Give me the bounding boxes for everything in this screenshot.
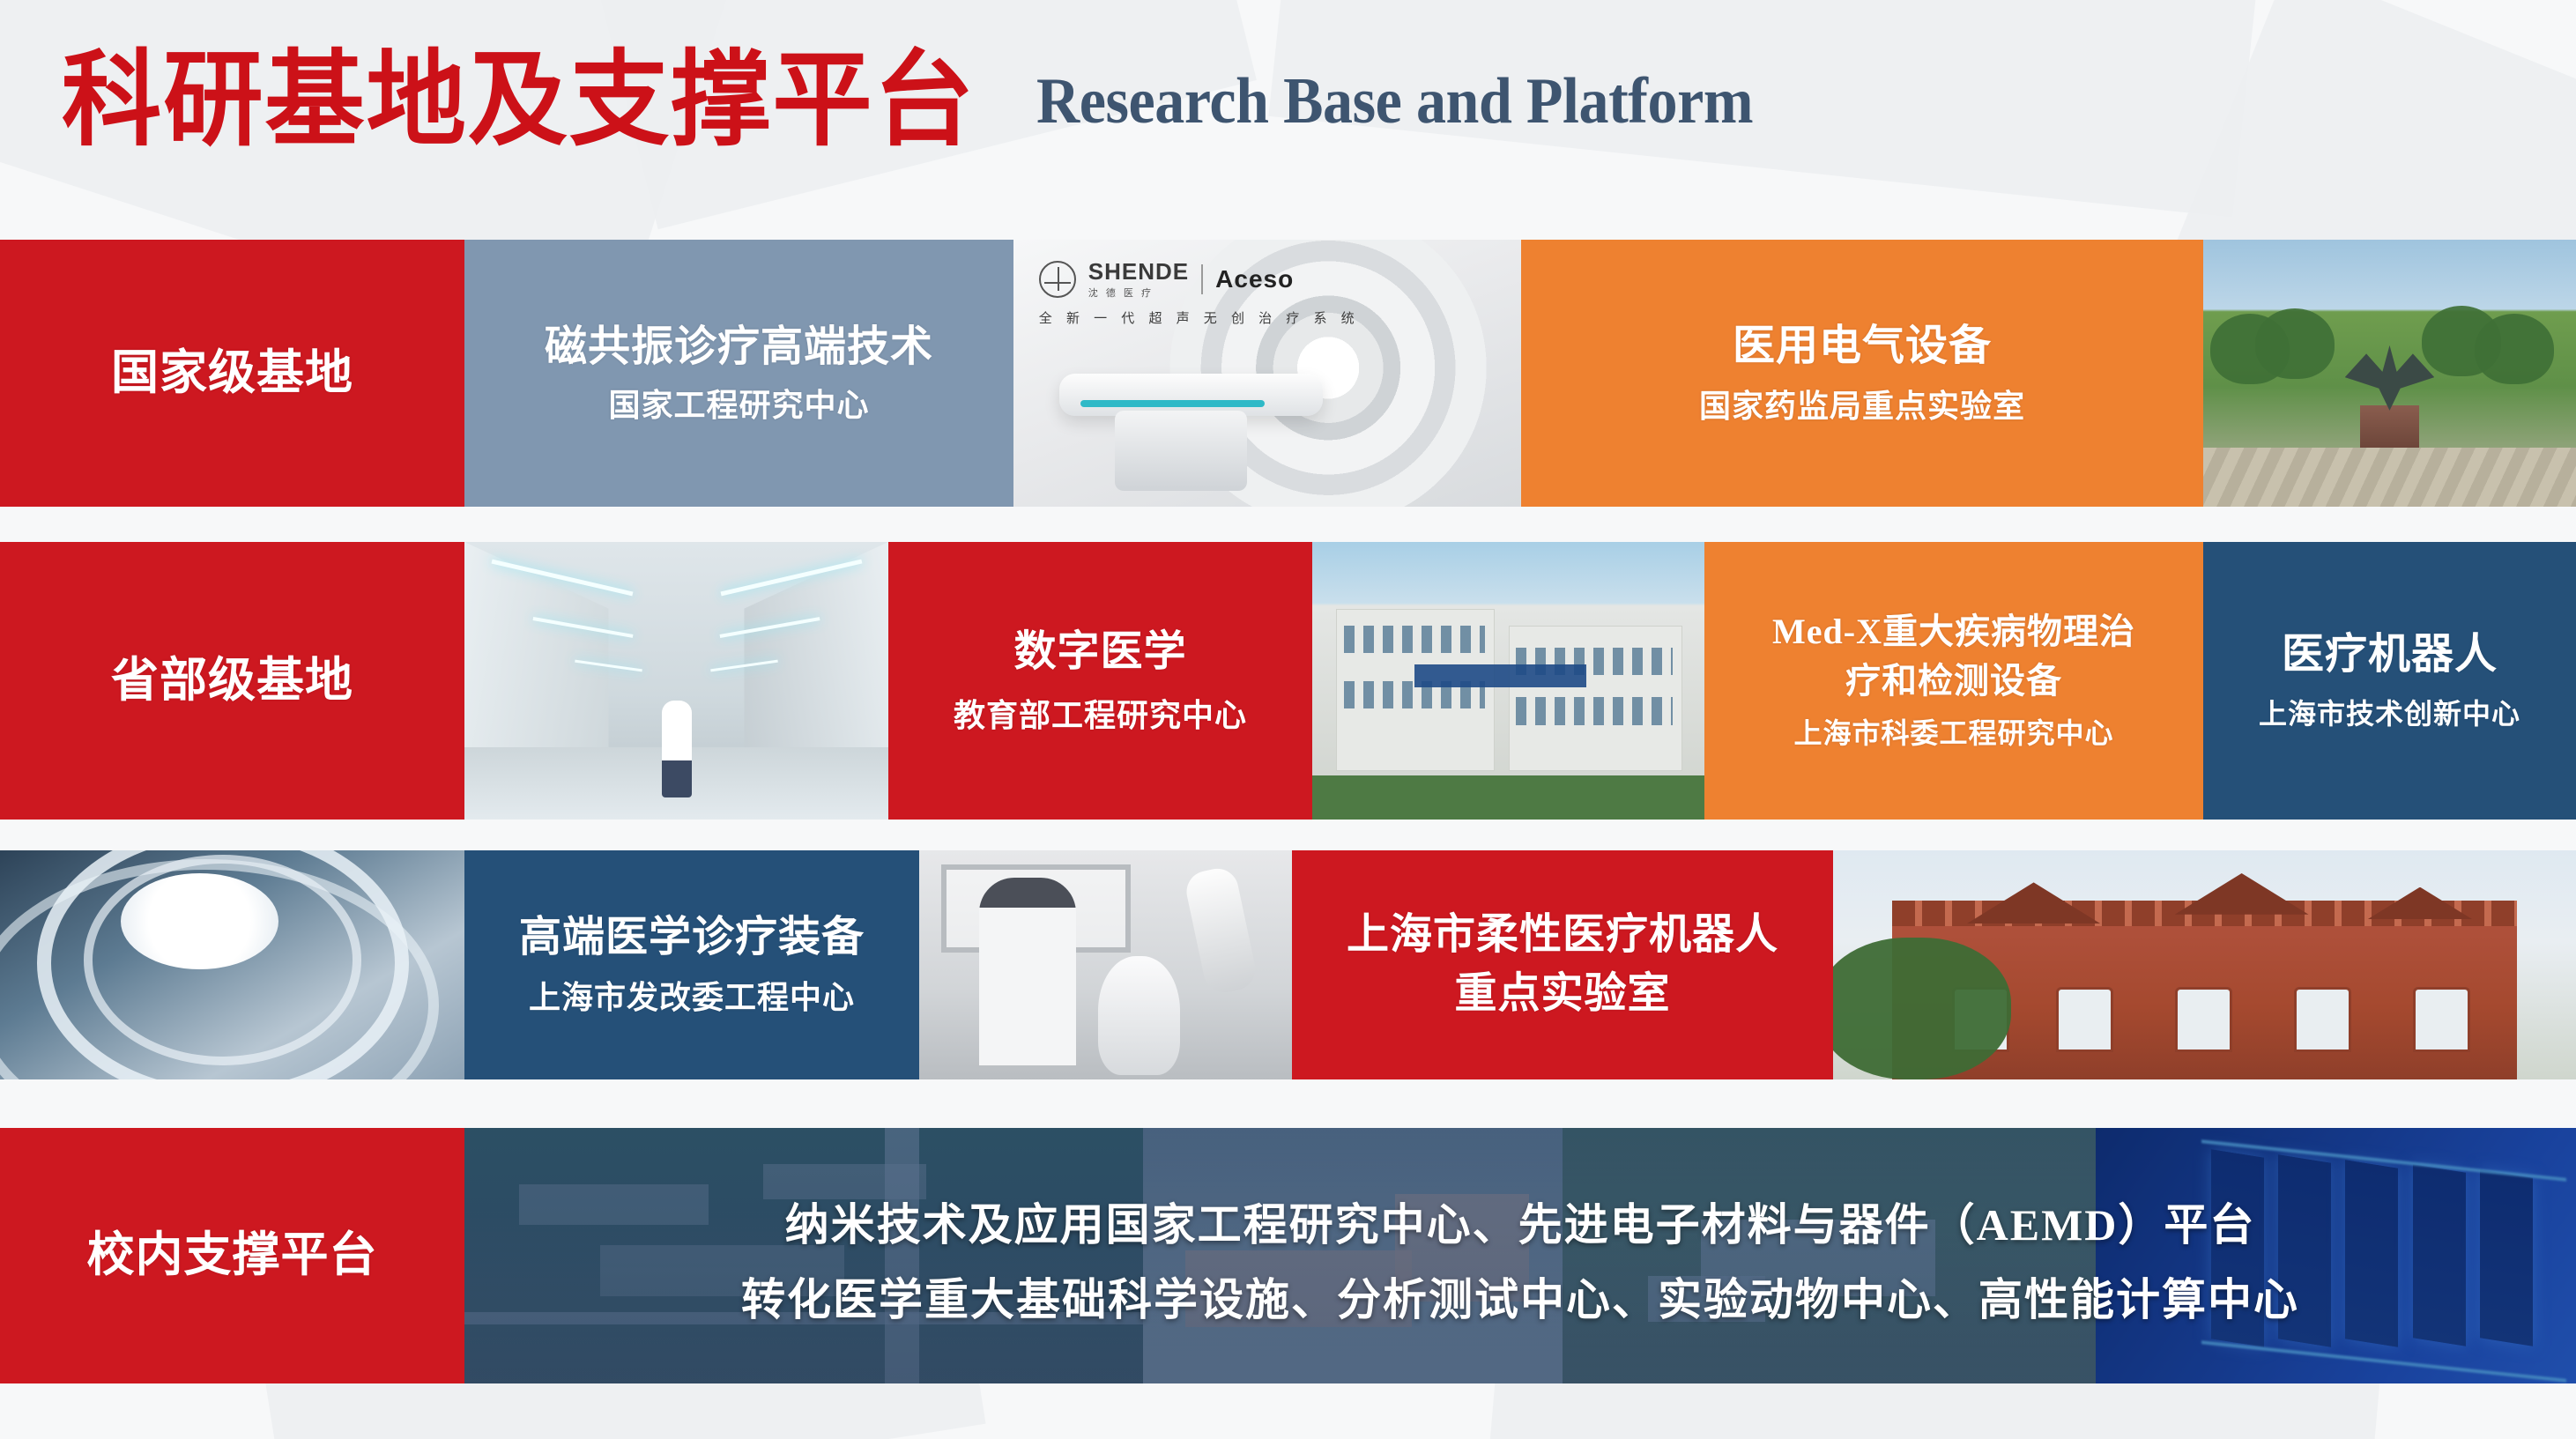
- card-subtitle: 上海市发改委工程中心: [529, 979, 855, 1016]
- photo-campus-eagle: [2203, 240, 2576, 507]
- product-caption: 全 新 一 代 超 声 无 创 治 疗 系 统: [1039, 308, 1360, 327]
- category-label-provincial: 省部级基地: [0, 542, 464, 820]
- card-subtitle: 教育部工程研究中心: [954, 697, 1247, 734]
- photo-school-building: [1312, 542, 1704, 820]
- card-title: 磁共振诊疗高端技术: [545, 323, 933, 373]
- category-label-national: 国家级基地: [0, 240, 464, 507]
- card-title: 医用电气设备: [1733, 322, 1992, 372]
- card-flexible-medical-robot-lab[interactable]: 上海市柔性医疗机器人 重点实验室: [1292, 850, 1833, 1079]
- row-national-base: 国家级基地 磁共振诊疗高端技术 国家工程研究中心 SHENDE 沈 德 医 疗 …: [0, 240, 2576, 507]
- brand-name-cn: 沈 德 医 疗: [1088, 286, 1189, 300]
- product-branding: SHENDE 沈 德 医 疗 Aceso 全 新 一 代 超 声 无 创 治 疗…: [1039, 258, 1360, 327]
- card-title: 医疗机器人: [2282, 630, 2498, 680]
- category-label-campus-support: 校内支撑平台: [0, 1128, 464, 1383]
- page-title-en: Research Base and Platform: [1036, 69, 1753, 134]
- row-provincial-base: 省部级基地 数字医学 教育部工程研究中心: [0, 542, 2576, 820]
- card-subtitle: 国家药监局重点实验室: [1699, 388, 2025, 425]
- card-advanced-diagnostic-equipment[interactable]: 高端医学诊疗装备 上海市发改委工程中心: [464, 850, 919, 1079]
- logo-divider: [1201, 264, 1203, 294]
- eagle-sculpture-illustration: [2203, 240, 2576, 507]
- card-medical-electrical-equipment[interactable]: 医用电气设备 国家药监局重点实验室: [1521, 240, 2203, 507]
- robot-lab-illustration: [919, 850, 1292, 1079]
- card-title-line1: Med-X重大疾病物理治: [1772, 611, 2135, 652]
- card-title: 高端医学诊疗装备: [519, 913, 865, 963]
- photo-robot-lab: [919, 850, 1292, 1079]
- category-text: 校内支撑平台: [87, 1228, 378, 1284]
- photo-spiral-staircase: [0, 850, 464, 1079]
- partner-brand-name: Aceso: [1215, 265, 1294, 293]
- card-subtitle: 国家工程研究中心: [608, 387, 869, 424]
- campus-platform-overlay-line2: 转化医学重大基础科学设施、分析测试中心、实验动物中心、高性能计算中心: [464, 1269, 2576, 1331]
- school-building-illustration: [1312, 542, 1704, 820]
- corridor-illustration: [464, 542, 888, 820]
- card-title-line2: 疗和检测设备: [1845, 660, 2062, 701]
- brand-name-en: SHENDE: [1088, 258, 1189, 286]
- spiral-staircase-illustration: [0, 850, 464, 1079]
- photo-heritage-building: [1833, 850, 2576, 1079]
- card-digital-medicine[interactable]: 数字医学 教育部工程研究中心: [888, 542, 1312, 820]
- page-title-cn: 科研基地及支撑平台: [62, 49, 976, 153]
- shende-logo-icon: [1039, 261, 1076, 298]
- category-text: 国家级基地: [111, 345, 353, 402]
- card-medx-equipment[interactable]: Med-X重大疾病物理治 疗和检测设备 上海市科委工程研究中心: [1704, 542, 2203, 820]
- photo-mri-device: SHENDE 沈 德 医 疗 Aceso 全 新 一 代 超 声 无 创 治 疗…: [1013, 240, 1521, 507]
- page-header: 科研基地及支撑平台 Research Base and Platform: [0, 0, 2576, 203]
- campus-platform-overlay-line1: 纳米技术及应用国家工程研究中心、先进电子材料与器件（AEMD）平台: [464, 1194, 2576, 1257]
- card-mri-technology[interactable]: 磁共振诊疗高端技术 国家工程研究中心: [464, 240, 1013, 507]
- card-title-line2: 重点实验室: [1454, 969, 1670, 1020]
- card-subtitle: 上海市科委工程研究中心: [1793, 717, 2113, 751]
- row-municipal-platforms: 高端医学诊疗装备 上海市发改委工程中心 上海市柔性医疗机器人 重点实验室: [0, 850, 2576, 1079]
- card-subtitle: 上海市技术创新中心: [2259, 698, 2520, 731]
- card-title-line1: 上海市柔性医疗机器人: [1347, 910, 1778, 961]
- red-brick-building-illustration: [1833, 850, 2576, 1079]
- photo-hospital-corridor: [464, 542, 888, 820]
- category-text: 省部级基地: [111, 653, 353, 709]
- card-medical-robot[interactable]: 医疗机器人 上海市技术创新中心: [2203, 542, 2576, 820]
- card-title: 数字医学: [1013, 627, 1186, 678]
